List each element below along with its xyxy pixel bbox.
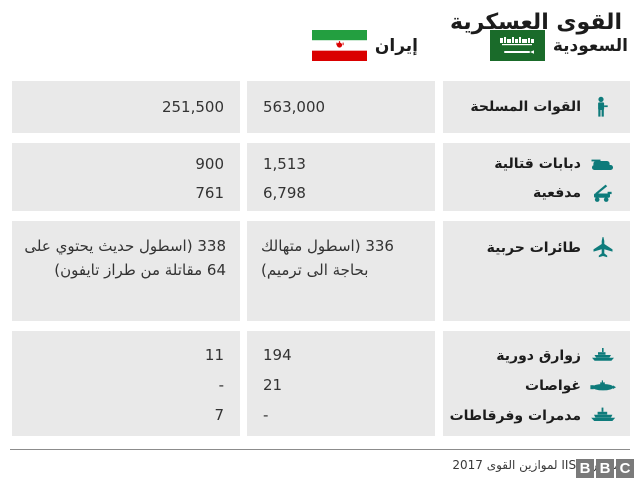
- country-name-saudi: السعودية: [553, 36, 628, 56]
- fighter-jet-icon: [590, 237, 616, 259]
- saudi-arabia-flag-icon: [490, 30, 545, 61]
- country-header-iran: إيران: [312, 30, 418, 61]
- value-saudi-armed-forces: 251,500: [12, 94, 240, 120]
- value-iran-patrol-boats: 194: [247, 341, 435, 370]
- row-label-text: دبابات قتالية: [494, 151, 581, 177]
- row-label-submarines: غواصات: [443, 371, 630, 400]
- row-label-battle-tanks: دبابات قتالية: [443, 151, 630, 177]
- value-panel-iran-land-forces: 1,513 6,798: [247, 143, 435, 211]
- value-panel-saudi-personnel: 251,500: [12, 81, 240, 133]
- iran-flag-icon: [312, 30, 367, 61]
- value-panel-saudi-air-force: 338 (اسطول حديث يحتوي على 64 مقاتلة من ط…: [12, 221, 240, 321]
- bbc-logo-letter-1: B: [576, 459, 594, 478]
- value-panel-iran-navy: 194 21 -: [247, 331, 435, 436]
- row-label-text: طائرات حربية: [487, 235, 581, 261]
- value-saudi-patrol-boats: 11: [12, 341, 240, 370]
- row-label-text: مدفعية: [533, 180, 581, 206]
- row-label-patrol-boats: زوارق دورية: [443, 341, 630, 370]
- row-label-combat-aircraft: طائرات حربية: [443, 235, 630, 261]
- value-iran-destroyers-frigates: -: [247, 401, 435, 430]
- row-group-personnel: القوات المسلحة 563,000 251,500: [0, 81, 640, 133]
- bbc-logo-letter-2: B: [596, 459, 614, 478]
- label-panel-air-force: طائرات حربية: [443, 221, 630, 321]
- row-label-text: القوات المسلحة: [470, 94, 581, 120]
- value-iran-battle-tanks: 1,513: [247, 151, 435, 177]
- value-panel-saudi-land-forces: 900 761: [12, 143, 240, 211]
- value-iran-submarines: 21: [247, 371, 435, 400]
- row-group-land-forces: دبابات قتالية مدفعية 1,513 6,798: [0, 143, 640, 211]
- row-label-text: مدمرات وفرقاطات: [450, 403, 581, 429]
- military-comparison-infographic: القوى العسكرية السعودية: [0, 0, 640, 482]
- value-iran-combat-aircraft: 336 (اسطول متهالك بحاجة الى ترميم): [247, 221, 435, 282]
- value-saudi-artillery: 761: [12, 180, 240, 206]
- value-saudi-combat-aircraft: 338 (اسطول حديث يحتوي على 64 مقاتلة من ط…: [12, 221, 240, 282]
- label-panel-land-forces: دبابات قتالية مدفعية: [443, 143, 630, 211]
- value-iran-armed-forces: 563,000: [247, 94, 435, 120]
- value-panel-iran-personnel: 563,000: [247, 81, 435, 133]
- label-panel-navy: زوارق دورية غواصات: [443, 331, 630, 436]
- value-panel-iran-air-force: 336 (اسطول متهالك بحاجة الى ترميم): [247, 221, 435, 321]
- value-panel-saudi-navy: 11 - 7: [12, 331, 240, 436]
- value-saudi-destroyers-frigates: 7: [12, 401, 240, 430]
- artillery-icon: [590, 182, 616, 204]
- tank-icon: [590, 153, 616, 175]
- country-name-iran: إيران: [375, 36, 418, 56]
- bbc-logo: B B C: [576, 459, 634, 478]
- row-group-navy: زوارق دورية غواصات: [0, 331, 640, 436]
- submarine-icon: [590, 375, 616, 397]
- footer-divider: [10, 449, 630, 450]
- infographic-header: القوى العسكرية السعودية: [0, 0, 640, 76]
- destroyer-icon: [590, 405, 616, 427]
- value-iran-artillery: 6,798: [247, 180, 435, 206]
- value-saudi-battle-tanks: 900: [12, 151, 240, 177]
- patrol-boat-icon: [590, 345, 616, 367]
- row-label-text: غواصات: [525, 373, 581, 399]
- label-panel-personnel: القوات المسلحة: [443, 81, 630, 133]
- country-header-saudi: السعودية: [490, 30, 628, 61]
- row-label-destroyers-frigates: مدمرات وفرقاطات: [443, 401, 630, 430]
- row-group-air-force: طائرات حربية 336 (اسطول متهالك بحاجة الى…: [0, 221, 640, 321]
- soldier-icon: [590, 96, 616, 118]
- row-label-artillery: مدفعية: [443, 180, 630, 206]
- row-label-text: زوارق دورية: [496, 343, 581, 369]
- row-label-armed-forces: القوات المسلحة: [443, 94, 630, 120]
- bbc-logo-letter-3: C: [616, 459, 634, 478]
- value-saudi-submarines: -: [12, 371, 240, 400]
